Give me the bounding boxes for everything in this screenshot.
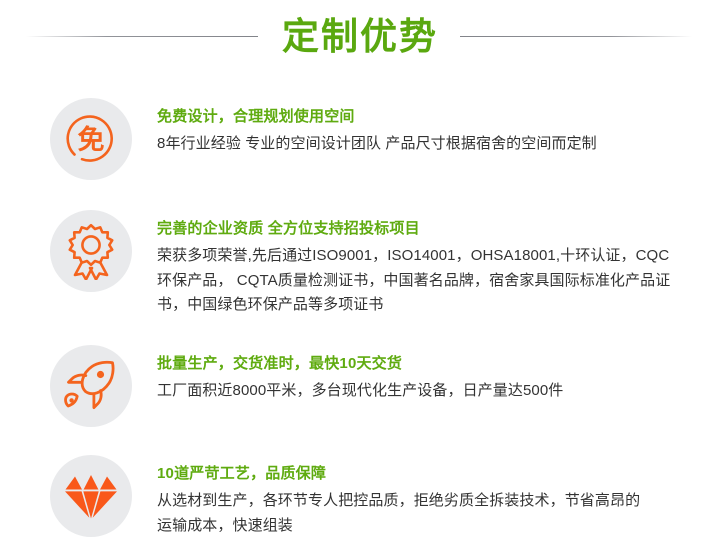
feature-title: 免费设计，合理规划使用空间 (157, 107, 702, 127)
feature-title: 完善的企业资质 全方位支持招投标项目 (157, 219, 702, 239)
medal-ribbon-icon (50, 210, 132, 292)
feature-description: 8年行业经验 专业的空间设计团队 产品尺寸根据宿舍的空间而定制 (157, 132, 702, 156)
page-header: 定制优势 (0, 0, 720, 72)
feature-text: 10道严苛工艺，品质保障 从选材到生产，各环节专人把控品质，拒绝劣质全拆装技术，… (132, 455, 702, 538)
feature-description: 荣获多项荣誉,先后通过ISO9001，ISO14001，OHSA18001,十环… (157, 244, 702, 317)
divider-right (460, 36, 692, 37)
feature-description: 工厂面积近8000平米，多台现代化生产设备，日产量达500件 (157, 379, 702, 403)
free-circle-glyph: 免 (78, 125, 105, 155)
feature-text: 批量生产，交货准时，最快10天交货 工厂面积近8000平米，多台现代化生产设备，… (132, 345, 702, 404)
rocket-icon (50, 345, 132, 427)
feature-description-line: 工厂面积近8000平米，多台现代化生产设备，日产量达500件 (157, 379, 702, 403)
page-title: 定制优势 (264, 18, 456, 55)
divider-left (26, 36, 258, 37)
feature-description-line: 8年行业经验 专业的空间设计团队 产品尺寸根据宿舍的空间而定制 (157, 132, 702, 156)
feature-description: 从选材到生产，各环节专人把控品质，拒绝劣质全拆装技术，节省高昂的 运输成本，快速… (157, 489, 702, 538)
feature-title: 10道严苛工艺，品质保障 (157, 464, 702, 484)
feature-item: 免 免费设计，合理规划使用空间 8年行业经验 专业的空间设计团队 产品尺寸根据宿… (0, 98, 720, 180)
feature-item: 完善的企业资质 全方位支持招投标项目 荣获多项荣誉,先后通过ISO9001，IS… (0, 210, 720, 317)
feature-text: 完善的企业资质 全方位支持招投标项目 荣获多项荣誉,先后通过ISO9001，IS… (132, 210, 702, 317)
feature-description-line: 从选材到生产，各环节专人把控品质，拒绝劣质全拆装技术，节省高昂的 (157, 489, 702, 513)
feature-list: 免 免费设计，合理规划使用空间 8年行业经验 专业的空间设计团队 产品尺寸根据宿… (0, 72, 720, 538)
diamond-icon (50, 455, 132, 537)
feature-description-line: 荣获多项荣誉,先后通过ISO9001，ISO14001，OHSA18001,十环… (157, 244, 702, 268)
free-circle-icon: 免 (50, 98, 132, 180)
feature-item: 10道严苛工艺，品质保障 从选材到生产，各环节专人把控品质，拒绝劣质全拆装技术，… (0, 455, 720, 538)
feature-text: 免费设计，合理规划使用空间 8年行业经验 专业的空间设计团队 产品尺寸根据宿舍的… (132, 98, 702, 157)
feature-description-line: 运输成本，快速组装 (157, 514, 702, 538)
feature-description-line: 书，中国绿色环保产品等多项证书 (157, 293, 702, 317)
feature-description-line: 环保产品， CQTA质量检测证书，中国著名品牌，宿舍家具国际标准化产品证 (157, 269, 702, 293)
feature-item: 批量生产，交货准时，最快10天交货 工厂面积近8000平米，多台现代化生产设备，… (0, 345, 720, 427)
feature-title: 批量生产，交货准时，最快10天交货 (157, 354, 702, 374)
